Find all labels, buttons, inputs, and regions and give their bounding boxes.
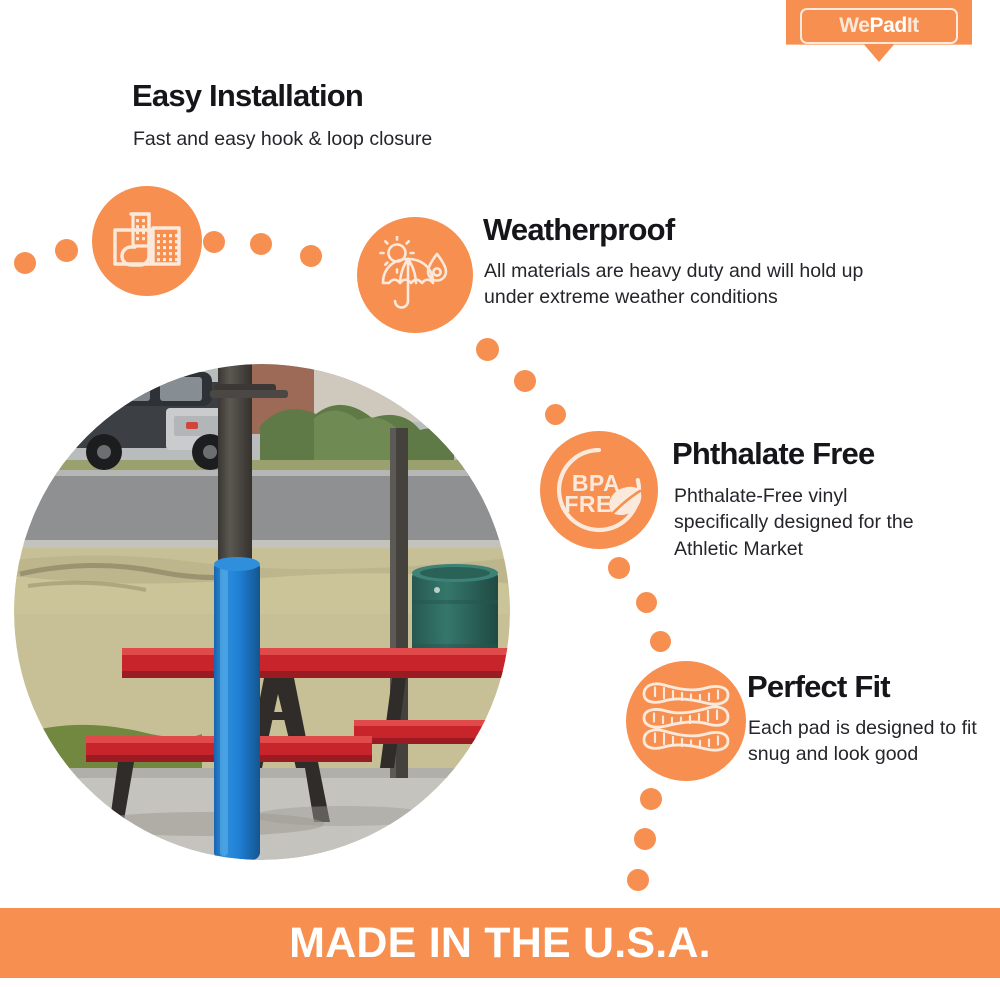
feature-description-easy-installation: Fast and easy hook & loop closure xyxy=(133,126,563,152)
brand-logo-outline: WePadIt xyxy=(800,8,958,44)
connector-dot xyxy=(640,788,662,810)
connector-dot xyxy=(514,370,536,392)
feature-title-weatherproof: Weatherproof xyxy=(483,214,674,247)
brand-wordmark-we: We xyxy=(839,14,869,37)
connector-dot xyxy=(300,245,322,267)
feature-title-perfect-fit: Perfect Fit xyxy=(747,671,890,704)
feature-icon-bubble-phthalate-free: BPA FREE xyxy=(540,431,658,549)
infographic-page: WePadIt Easy Installation Fast and easy … xyxy=(0,0,1000,987)
feature-title-easy-installation: Easy Installation xyxy=(132,80,363,113)
connector-dot xyxy=(627,869,649,891)
feature-icon-bubble-easy-installation xyxy=(92,186,202,296)
connector-dot xyxy=(14,252,36,274)
feature-description-weatherproof: All materials are heavy duty and will ho… xyxy=(484,258,909,311)
connector-dot xyxy=(203,231,225,253)
product-photo-illustration xyxy=(14,364,510,860)
feature-description-perfect-fit: Each pad is designed to fit snug and loo… xyxy=(748,715,978,768)
feature-icon-bubble-perfect-fit xyxy=(626,661,746,781)
measuring-tape-icon xyxy=(638,676,734,766)
brand-wordmark: WePadIt xyxy=(839,15,919,36)
connector-dot xyxy=(55,239,78,262)
feature-icon-bubble-weatherproof xyxy=(357,217,473,333)
connector-dot xyxy=(545,404,566,425)
made-in-usa-text: MADE IN THE U.S.A. xyxy=(289,922,711,965)
made-in-usa-banner: MADE IN THE U.S.A. xyxy=(0,908,1000,978)
feature-title-phthalate-free: Phthalate Free xyxy=(672,438,874,471)
feature-description-phthalate-free: Phthalate-Free vinyl specifically design… xyxy=(674,483,944,562)
brand-wordmark-it: It xyxy=(907,14,919,37)
product-photo-circle xyxy=(14,364,510,860)
bpa-free-leaf-icon: BPA FREE xyxy=(550,441,648,539)
hook-and-loop-strip-icon xyxy=(111,208,183,274)
connector-dot xyxy=(636,592,657,613)
connector-dot xyxy=(476,338,499,361)
brand-wordmark-pad: Pad xyxy=(869,14,906,37)
brand-logo: WePadIt xyxy=(786,0,972,62)
connector-dot xyxy=(634,828,656,850)
connector-dot xyxy=(250,233,272,255)
sun-umbrella-raindrop-icon xyxy=(375,236,455,314)
connector-dot xyxy=(650,631,671,652)
connector-dot xyxy=(608,557,630,579)
